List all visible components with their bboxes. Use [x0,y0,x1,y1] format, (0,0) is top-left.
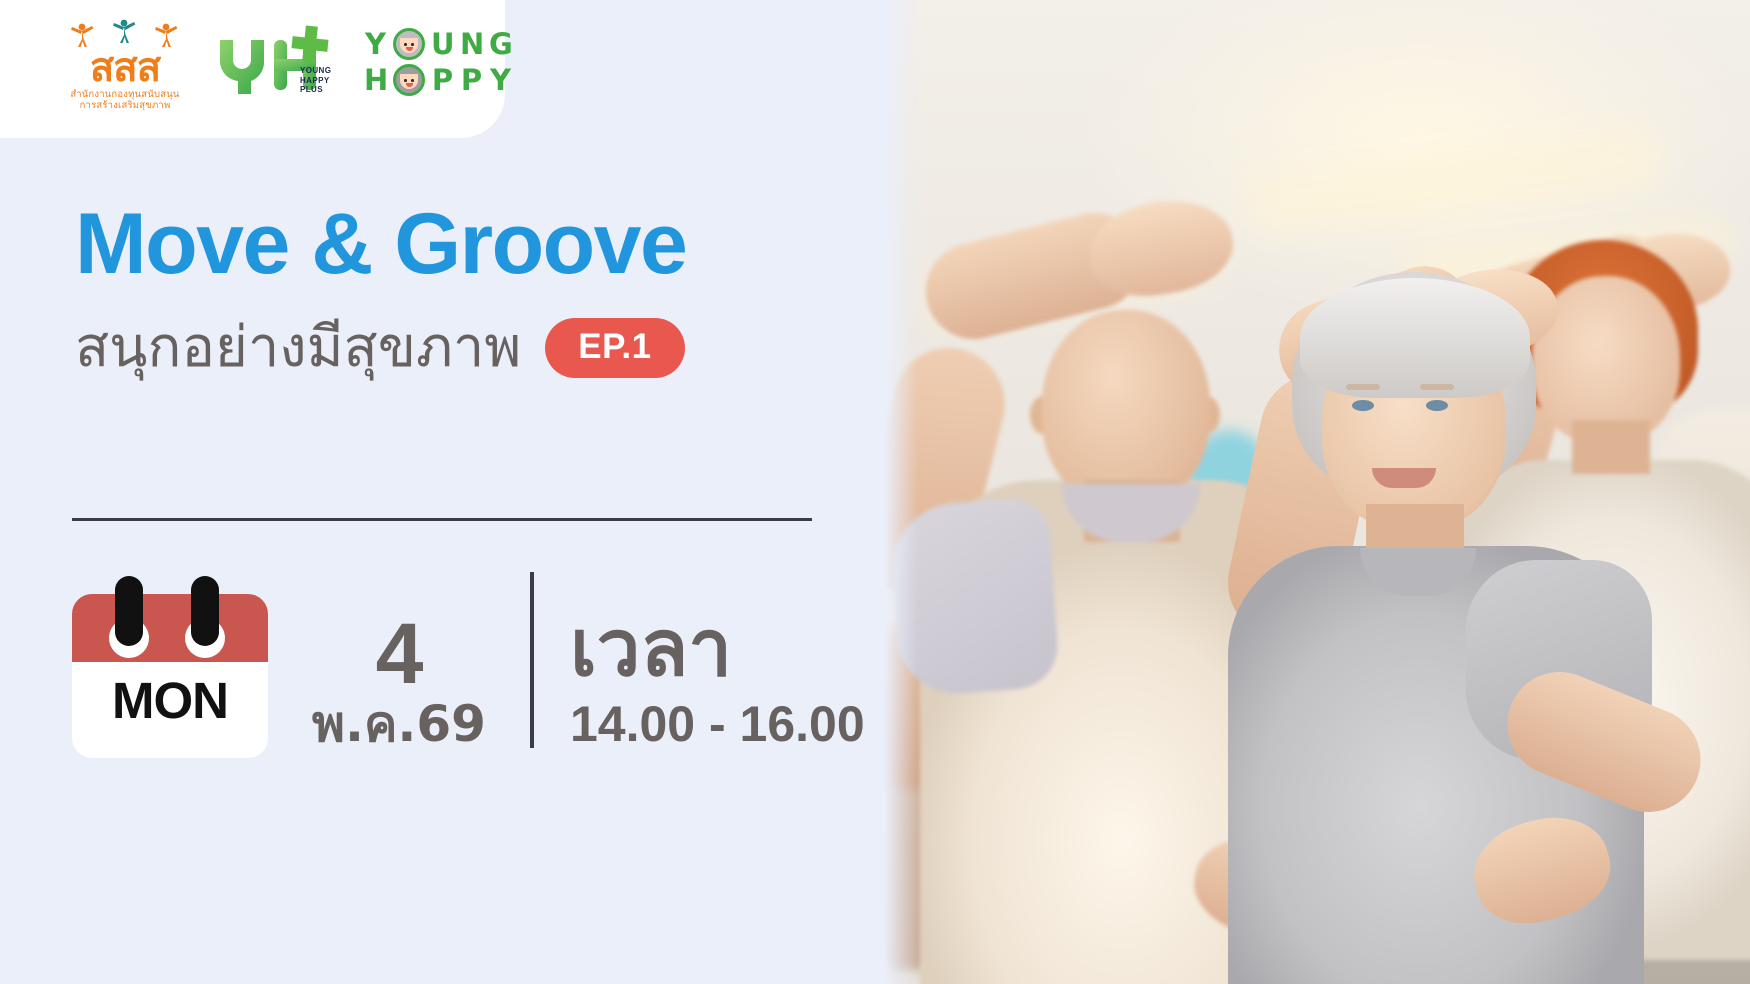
photo-edge-fade [884,0,918,984]
time-range: 14.00 - 16.00 [570,694,865,754]
thaihealth-wordmark: สสส [60,47,190,89]
time-block: เวลา 14.00 - 16.00 [570,606,865,758]
info-panel: สสส สำนักงานกองทุนสนับสนุน การสร้างเสริม… [0,0,884,984]
yh-plus-line1: YOUNG [300,66,331,76]
thaihealth-subtext-line1: สำนักงานกองทุนสนับสนุน [60,89,190,100]
yh-letter: G [489,26,512,62]
subtitle-row: สนุกอย่างมีสุขภาพ EP.1 [75,312,685,384]
time-label: เวลา [570,606,732,692]
person-senior-woman [1174,260,1694,984]
thaihealth-figures-icon [67,15,183,47]
grandpa-face-icon [393,28,425,60]
schedule-row: MON 4 พ.ค.69 เวลา 14.00 - 16.00 [72,548,865,758]
yh-plus-line3: PLUS [300,85,331,95]
grandma-face-icon [393,64,425,96]
yh-plus-wordmark: YOUNG HAPPY PLUS [300,66,331,95]
vertical-divider [530,572,534,748]
yh-letter: Y [489,62,512,98]
date-day-number: 4 [376,610,423,698]
event-subtitle-thai: สนุกอย่างมีสุขภาพ [75,312,521,384]
date-block: 4 พ.ค.69 [312,610,486,758]
plus-icon [290,24,330,64]
event-banner: สสส สำนักงานกองทุนสนับสนุน การสร้างเสริม… [0,0,1750,984]
logo-young-happy-plus: YOUNG HAPPY PLUS [216,22,338,106]
yh-letter: P [431,62,454,98]
yh-letter: U [431,26,454,62]
yh-letter: P [460,62,483,98]
logo-bar: สสส สำนักงานกองทุนสนับสนุน การสร้างเสริม… [0,0,505,138]
calendar-icon: MON [72,566,268,758]
young-happy-row-happy: H P P Y [364,62,516,98]
event-title: Move & Groove [75,196,686,292]
event-photo [884,0,1750,984]
calendar-day-name: MON [72,672,268,730]
date-month-year: พ.ค.69 [312,694,486,754]
yh-letter: N [460,26,483,62]
thaihealth-subtext-line2: การสร้างเสริมสุขภาพ [60,100,190,111]
logo-thaihealth: สสส สำนักงานกองทุนสนับสนุน การสร้างเสริม… [60,15,190,113]
horizontal-divider [72,518,812,521]
episode-badge: EP.1 [545,318,684,378]
yh-letter: Y [364,26,387,62]
yh-plus-line2: HAPPY [300,76,331,86]
young-happy-row-young: Y U N G [364,26,516,62]
yh-letter: H [364,62,387,98]
logo-young-happy: Y U N G H P P [364,26,516,102]
